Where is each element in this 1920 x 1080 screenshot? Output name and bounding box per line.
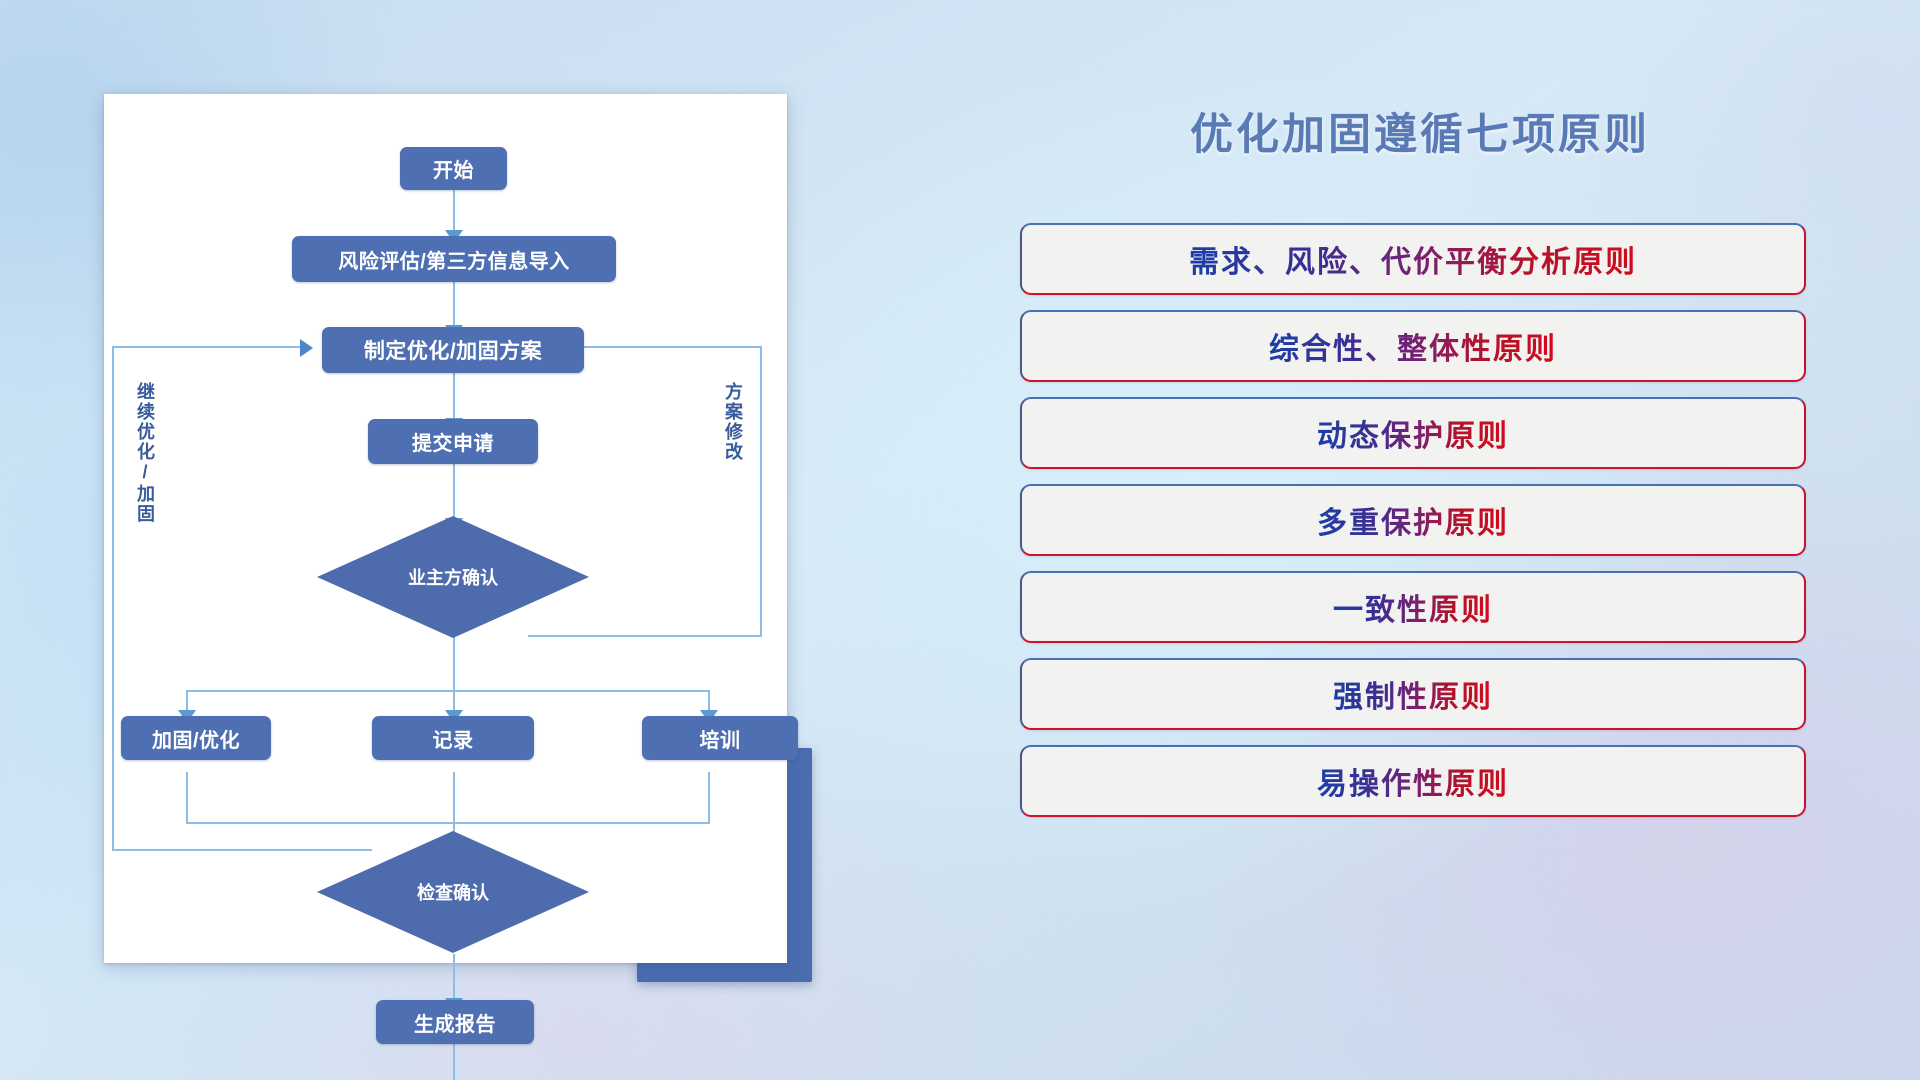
connector-report-end [453,1042,455,1080]
flowchart-canvas: 继续优化/加固 方案修改 开始 风险评估/第三方信息导入 制定优化/加固方案 [104,94,787,963]
flow-node-owner-confirm[interactable]: 业主方确认 [317,516,589,638]
principle-item[interactable]: 综合性、整体性原则 [1020,310,1806,382]
flow-node-reinforce[interactable]: 加固/优化 [121,716,271,760]
flow-node-record[interactable]: 记录 [372,716,534,760]
flow-node-start[interactable]: 开始 [400,147,507,190]
principle-item[interactable]: 多重保护原则 [1020,484,1806,556]
principle-label: 易操作性原则 [1317,759,1509,803]
flow-node-plan[interactable]: 制定优化/加固方案 [322,327,584,373]
principles-panel: 优化加固遵循七项原则 需求、风险、代价平衡分析原则 综合性、整体性原则 动态保护… [1020,100,1820,1000]
connector-right-loop-vertical [760,346,762,637]
connector-merge-right [708,772,710,824]
page-title: 优化加固遵循七项原则 [1020,100,1820,162]
connector-owner-down [453,637,455,690]
connector-left-loop-vertical [112,346,114,851]
connector-left-loop-top [112,346,304,348]
principle-item[interactable]: 易操作性原则 [1020,745,1806,817]
connector-check-report [453,954,455,1002]
connector-merge-left [186,772,188,824]
connector-submit-owner [453,460,455,522]
principle-label: 综合性、整体性原则 [1269,324,1557,368]
flowchart-card: 继续优化/加固 方案修改 开始 风险评估/第三方信息导入 制定优化/加固方案 [104,94,787,963]
flow-node-risk-assessment[interactable]: 风险评估/第三方信息导入 [292,236,616,282]
connector-right-loop-bottom [528,635,762,637]
connector-merge-bus [186,822,710,824]
edge-label-plan-revision: 方案修改 [720,382,746,462]
flow-node-training[interactable]: 培训 [642,716,798,760]
principle-item[interactable]: 一致性原则 [1020,571,1806,643]
principle-label: 动态保护原则 [1317,411,1509,455]
principle-item[interactable]: 需求、风险、代价平衡分析原则 [1020,223,1806,295]
principle-item[interactable]: 动态保护原则 [1020,397,1806,469]
arrowhead-left-loop-icon [300,339,313,357]
connector-plan-submit [453,366,455,422]
principle-label: 需求、风险、代价平衡分析原则 [1189,237,1637,281]
principle-item[interactable]: 强制性原则 [1020,658,1806,730]
flow-node-report[interactable]: 生成报告 [376,1000,534,1044]
principle-label: 多重保护原则 [1317,498,1509,542]
connector-left-loop-bottom [112,849,372,851]
flow-node-submit[interactable]: 提交申请 [368,419,538,464]
edge-label-continue-optimize: 继续优化/加固 [132,382,158,524]
principles-list: 需求、风险、代价平衡分析原则 综合性、整体性原则 动态保护原则 多重保护原则 一… [1020,223,1806,832]
principle-label: 一致性原则 [1333,585,1493,629]
connector-branch-bus [186,690,710,692]
principle-label: 强制性原则 [1333,672,1493,716]
